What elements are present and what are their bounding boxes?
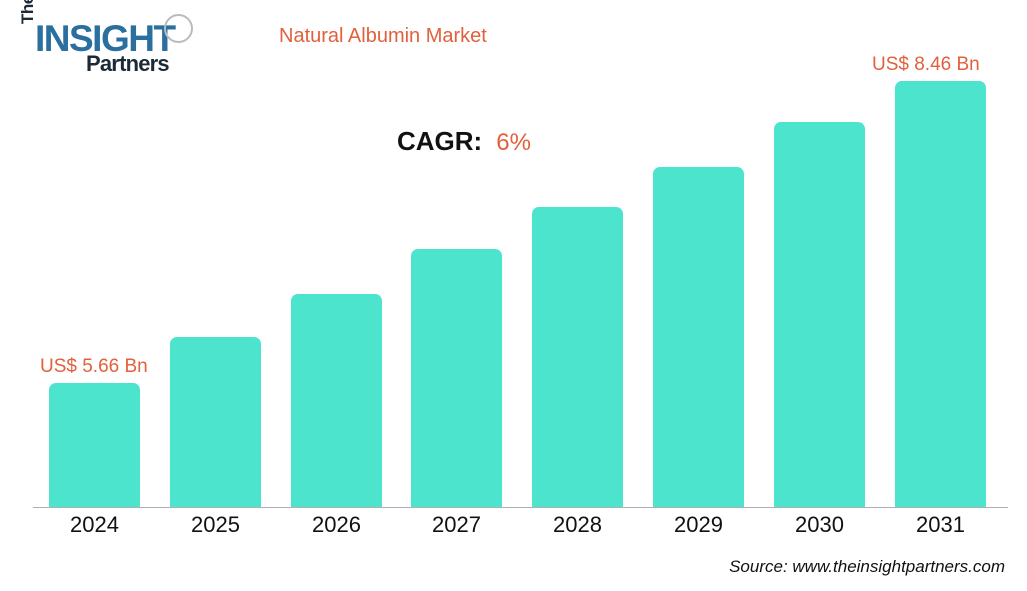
- bar-2027: [411, 249, 502, 507]
- x-tick-2027: 2027: [411, 512, 502, 538]
- x-tick-2030: 2030: [774, 512, 865, 538]
- bar-2030: [774, 122, 865, 507]
- x-tick-2025: 2025: [170, 512, 261, 538]
- data-label-2024: US$ 5.66 Bn: [40, 356, 148, 378]
- bar-2026: [291, 294, 382, 507]
- data-label-2031: US$ 8.46 Bn: [872, 54, 980, 76]
- bar-2029: [653, 167, 744, 507]
- x-axis-line: [33, 507, 1008, 508]
- bar-2031: [895, 81, 986, 507]
- x-tick-2028: 2028: [532, 512, 623, 538]
- chart-page: The INSIGHT Partners Natural Albumin Mar…: [0, 0, 1027, 591]
- bar-2024: [49, 383, 140, 507]
- bar-2025: [170, 337, 261, 507]
- plot-area: 20242025202620272028202920302031 US$ 5.6…: [0, 0, 1027, 591]
- x-tick-2026: 2026: [291, 512, 382, 538]
- x-tick-2031: 2031: [895, 512, 986, 538]
- bar-2028: [532, 207, 623, 507]
- x-tick-2029: 2029: [653, 512, 744, 538]
- x-tick-2024: 2024: [49, 512, 140, 538]
- source-note: Source: www.theinsightpartners.com: [729, 557, 1005, 577]
